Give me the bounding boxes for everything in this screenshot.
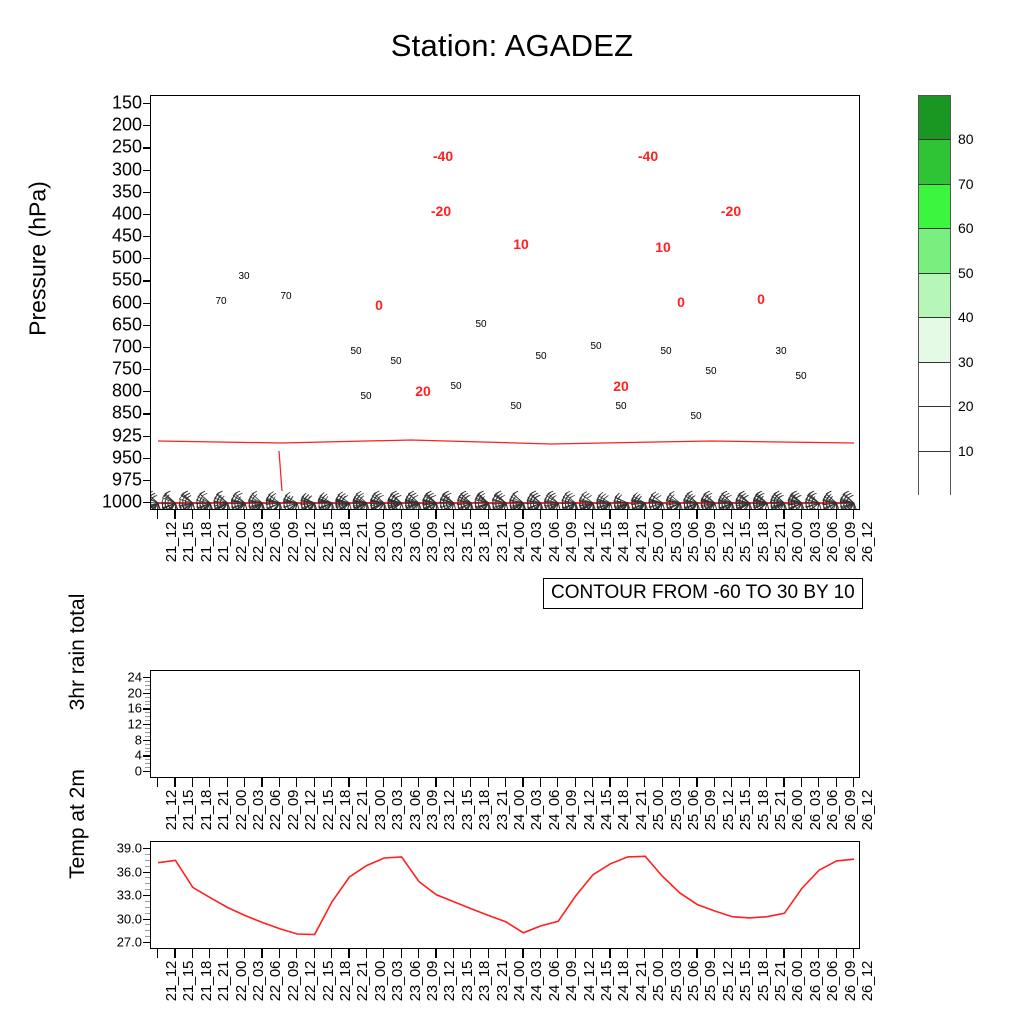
pressure-tick-label: 975 [82, 469, 142, 490]
x-tick-label: 25_15 [737, 522, 754, 562]
x-tick-mark [679, 510, 680, 519]
x-tick-label: 26_00 [789, 961, 806, 1001]
y-tick-label: 24 [96, 670, 142, 685]
x-tick-mark [192, 949, 193, 958]
x-tick-label: 23_12 [441, 790, 458, 830]
x-tick-label: 24_03 [528, 522, 545, 562]
x-tick-mark [557, 778, 558, 787]
x-tick-label: 24_18 [615, 790, 632, 830]
x-tick-mark [348, 778, 349, 787]
y-tick-mark [143, 755, 150, 756]
x-tick-mark [244, 778, 245, 787]
x-tick-mark [174, 949, 175, 958]
pressure-tick-mark [143, 325, 150, 326]
x-tick-mark [575, 778, 576, 787]
x-tick-label: 21_18 [198, 961, 215, 1001]
x-tick-label: 22_03 [250, 790, 267, 830]
x-tick-mark [348, 949, 349, 958]
x-tick-label: 22_00 [233, 790, 250, 830]
y-tick-label: 16 [96, 701, 142, 716]
pressure-tick-mark [143, 502, 150, 503]
x-tick-label: 23_03 [389, 522, 406, 562]
x-tick-label: 23_15 [459, 961, 476, 1001]
x-tick-mark [227, 949, 228, 958]
x-tick-label: 23_12 [441, 522, 458, 562]
x-tick-mark [401, 949, 402, 958]
x-tick-mark [470, 949, 471, 958]
pressure-tick-mark [143, 480, 150, 481]
x-tick-mark [853, 778, 854, 787]
pressure-tick-label: 700 [82, 336, 142, 357]
x-tick-mark [853, 510, 854, 519]
x-tick-mark [783, 510, 784, 519]
x-tick-label: 26_12 [859, 522, 876, 562]
contour-range-caption: CONTOUR FROM -60 TO 30 BY 10 [543, 578, 863, 609]
pressure-tick-label: 350 [82, 181, 142, 202]
x-tick-mark [731, 778, 732, 787]
x-tick-label: 24_00 [511, 522, 528, 562]
rain-total-plot[interactable] [150, 670, 860, 778]
x-tick-label: 25_21 [772, 790, 789, 830]
x-tick-mark [209, 949, 210, 958]
x-tick-mark [783, 949, 784, 958]
x-tick-label: 25_12 [720, 790, 737, 830]
x-tick-label: 24_06 [546, 961, 563, 1001]
x-tick-label: 22_18 [337, 522, 354, 562]
x-tick-mark [818, 510, 819, 519]
x-tick-label: 23_06 [407, 790, 424, 830]
y-tick-mark [143, 677, 150, 678]
x-tick-label: 23_18 [476, 961, 493, 1001]
x-tick-label: 24_00 [511, 961, 528, 1001]
x-tick-mark [261, 949, 262, 958]
y-tick-mark [143, 771, 150, 772]
x-tick-label: 24_21 [633, 961, 650, 1001]
pressure-tick-mark [143, 192, 150, 193]
x-tick-mark [453, 510, 454, 519]
colorbar-tick-label: 70 [958, 176, 974, 192]
x-tick-mark [157, 949, 158, 958]
x-tick-mark [557, 949, 558, 958]
y-tick-mark [143, 848, 150, 849]
x-tick-label: 26_06 [824, 961, 841, 1001]
x-tick-label: 23_21 [494, 522, 511, 562]
x-tick-label: 21_12 [163, 790, 180, 830]
y-tick-label: 12 [96, 717, 142, 732]
pressure-tick-label: 150 [82, 93, 142, 114]
x-tick-label: 24_12 [581, 522, 598, 562]
x-tick-mark [836, 510, 837, 519]
pressure-tick-mark [143, 436, 150, 437]
x-tick-label: 24_21 [633, 790, 650, 830]
y-tick-label: 33.0 [96, 888, 142, 903]
x-tick-mark [662, 949, 663, 958]
x-tick-mark [174, 778, 175, 787]
x-tick-mark [383, 949, 384, 958]
x-tick-label: 24_03 [528, 790, 545, 830]
x-tick-mark [749, 510, 750, 519]
x-tick-label: 24_12 [581, 790, 598, 830]
pressure-tick-mark [143, 347, 150, 348]
y-tick-mark [143, 693, 150, 694]
x-tick-label: 26_09 [842, 522, 859, 562]
x-tick-label: 23_06 [407, 961, 424, 1001]
pressure-tick-label: 600 [82, 292, 142, 313]
y-tick-mark [143, 872, 150, 873]
x-tick-mark [609, 510, 610, 519]
x-tick-label: 23_09 [424, 790, 441, 830]
x-tick-mark [227, 778, 228, 787]
x-tick-mark [383, 778, 384, 787]
x-tick-mark [488, 510, 489, 519]
pressure-tick-mark [143, 170, 150, 171]
x-tick-mark [366, 510, 367, 519]
x-tick-mark [609, 778, 610, 787]
temp-canvas [151, 842, 860, 949]
main-panel-y-axis-label: Pressure (hPa) [25, 99, 52, 419]
x-tick-label: 25_03 [668, 961, 685, 1001]
pressure-tick-mark [143, 236, 150, 237]
x-tick-mark [540, 778, 541, 787]
wind-barbs [151, 491, 859, 510]
x-tick-mark [818, 949, 819, 958]
x-tick-label: 21_15 [180, 522, 197, 562]
x-tick-mark [331, 778, 332, 787]
pressure-tick-mark [143, 214, 150, 215]
pressure-tick-mark [143, 280, 150, 281]
colorbar-tick-label: 30 [958, 354, 974, 370]
x-tick-mark [714, 778, 715, 787]
x-tick-label: 25_18 [755, 961, 772, 1001]
cross-section-canvas: 3050505050505050503070705050505050-40-40… [151, 96, 860, 510]
x-tick-mark [261, 510, 262, 519]
x-tick-label: 23_21 [494, 961, 511, 1001]
pressure-tick-label: 300 [82, 159, 142, 180]
x-tick-label: 25_15 [737, 961, 754, 1001]
temp-series-line [158, 856, 854, 934]
x-tick-mark [801, 949, 802, 958]
x-tick-label: 22_00 [233, 522, 250, 562]
x-tick-mark [766, 778, 767, 787]
x-tick-label: 22_21 [354, 961, 371, 1001]
x-tick-label: 26_00 [789, 522, 806, 562]
x-tick-label: 24_06 [546, 522, 563, 562]
x-tick-mark [592, 949, 593, 958]
y-tick-mark [143, 708, 150, 709]
x-tick-label: 21_18 [198, 790, 215, 830]
page-title: Station: AGADEZ [0, 28, 1024, 64]
upper-air-cross-section-plot[interactable]: 3050505050505050503070705050505050-40-40… [150, 95, 860, 510]
x-tick-mark [644, 510, 645, 519]
x-tick-label: 23_00 [372, 790, 389, 830]
x-tick-mark [662, 510, 663, 519]
x-tick-mark [470, 778, 471, 787]
pressure-tick-label: 1000 [82, 492, 142, 513]
x-tick-mark [314, 949, 315, 958]
x-tick-label: 26_12 [859, 790, 876, 830]
x-tick-mark [749, 949, 750, 958]
x-tick-label: 24_09 [563, 790, 580, 830]
x-tick-label: 26_12 [859, 961, 876, 1001]
x-tick-label: 21_12 [163, 522, 180, 562]
x-tick-mark [209, 778, 210, 787]
x-tick-mark [296, 778, 297, 787]
x-tick-label: 25_15 [737, 790, 754, 830]
x-tick-mark [488, 949, 489, 958]
temp-panel-y-tick-labels: 39.036.033.030.027.0 [86, 841, 142, 949]
pressure-tick-mark [143, 147, 150, 148]
x-tick-mark [731, 510, 732, 519]
x-tick-mark [279, 949, 280, 958]
x-tick-mark [470, 510, 471, 519]
x-tick-mark [157, 510, 158, 519]
x-tick-mark [192, 778, 193, 787]
x-tick-mark [836, 949, 837, 958]
x-tick-label: 24_06 [546, 790, 563, 830]
x-tick-label: 23_03 [389, 790, 406, 830]
x-tick-label: 25_06 [685, 790, 702, 830]
x-tick-mark [679, 949, 680, 958]
x-tick-mark [540, 949, 541, 958]
temp-2m-plot[interactable] [150, 841, 860, 949]
x-tick-mark [296, 949, 297, 958]
x-tick-label: 23_18 [476, 790, 493, 830]
colorbar-tick-label: 40 [958, 309, 974, 325]
x-tick-mark [192, 510, 193, 519]
colorbar-tick-label: 20 [958, 398, 974, 414]
x-tick-label: 25_12 [720, 522, 737, 562]
x-tick-mark [540, 510, 541, 519]
x-tick-mark [679, 778, 680, 787]
x-tick-label: 23_00 [372, 522, 389, 562]
x-tick-label: 22_15 [320, 961, 337, 1001]
main-panel-y-tick-labels: 1502002503003504004505005506006507007508… [78, 95, 142, 510]
x-tick-label: 25_12 [720, 961, 737, 1001]
y-tick-label: 39.0 [96, 841, 142, 856]
colorbar-tick-label: 80 [958, 131, 974, 147]
x-tick-label: 22_12 [302, 522, 319, 562]
x-tick-mark [314, 510, 315, 519]
y-tick-label: 4 [96, 748, 142, 763]
x-tick-label: 26_03 [807, 522, 824, 562]
x-tick-mark [696, 778, 697, 787]
x-tick-mark [853, 949, 854, 958]
y-tick-mark [143, 740, 150, 741]
x-tick-label: 21_21 [215, 790, 232, 830]
x-tick-label: 26_03 [807, 961, 824, 1001]
pressure-tick-mark [143, 258, 150, 259]
x-tick-label: 22_06 [267, 790, 284, 830]
x-tick-label: 23_03 [389, 961, 406, 1001]
y-tick-label: 30.0 [96, 911, 142, 926]
colorbar-tick-label: 10 [958, 443, 974, 459]
x-tick-label: 25_18 [755, 522, 772, 562]
x-tick-label: 24_18 [615, 522, 632, 562]
pressure-tick-label: 450 [82, 226, 142, 247]
x-tick-label: 25_09 [702, 522, 719, 562]
x-tick-label: 26_00 [789, 790, 806, 830]
x-tick-label: 23_15 [459, 790, 476, 830]
x-tick-label: 24_12 [581, 961, 598, 1001]
x-tick-label: 22_12 [302, 790, 319, 830]
x-tick-label: 21_12 [163, 961, 180, 1001]
x-tick-label: 22_18 [337, 790, 354, 830]
y-tick-label: 20 [96, 685, 142, 700]
x-tick-mark [488, 778, 489, 787]
x-tick-label: 26_09 [842, 961, 859, 1001]
x-tick-label: 23_00 [372, 961, 389, 1001]
x-tick-mark [766, 949, 767, 958]
y-tick-mark [143, 919, 150, 920]
y-tick-label: 8 [96, 732, 142, 747]
x-tick-label: 24_09 [563, 522, 580, 562]
x-tick-label: 21_15 [180, 961, 197, 1001]
x-tick-label: 25_09 [702, 790, 719, 830]
x-tick-mark [453, 778, 454, 787]
x-tick-mark [418, 949, 419, 958]
x-tick-label: 22_21 [354, 790, 371, 830]
x-tick-mark [801, 778, 802, 787]
x-tick-mark [418, 778, 419, 787]
x-tick-mark [505, 778, 506, 787]
y-tick-label: 36.0 [96, 864, 142, 879]
x-tick-label: 25_18 [755, 790, 772, 830]
x-tick-label: 25_09 [702, 961, 719, 1001]
pressure-tick-label: 925 [82, 425, 142, 446]
x-tick-mark [314, 778, 315, 787]
x-tick-label: 26_09 [842, 790, 859, 830]
rain-canvas [151, 671, 860, 778]
colorbar-tick-label: 50 [958, 265, 974, 281]
x-tick-mark [418, 510, 419, 519]
x-tick-mark [731, 949, 732, 958]
x-tick-mark [383, 510, 384, 519]
pressure-tick-label: 800 [82, 381, 142, 402]
x-tick-mark [714, 949, 715, 958]
temperature-isotherms [158, 440, 854, 503]
x-tick-mark [227, 510, 228, 519]
x-tick-label: 22_00 [233, 961, 250, 1001]
x-tick-mark [627, 778, 628, 787]
x-tick-label: 22_09 [285, 961, 302, 1001]
x-tick-mark [331, 949, 332, 958]
rain-panel-y-axis-label: 3hr rain total [66, 562, 90, 742]
x-tick-mark [644, 949, 645, 958]
x-tick-mark [279, 778, 280, 787]
x-tick-label: 26_06 [824, 790, 841, 830]
x-tick-label: 22_03 [250, 961, 267, 1001]
colorbar-tick-label: 60 [958, 220, 974, 236]
x-tick-mark [244, 949, 245, 958]
pressure-tick-label: 500 [82, 248, 142, 269]
x-tick-label: 24_00 [511, 790, 528, 830]
x-tick-mark [366, 949, 367, 958]
x-tick-label: 26_03 [807, 790, 824, 830]
x-tick-mark [627, 510, 628, 519]
x-tick-mark [714, 510, 715, 519]
pressure-tick-label: 400 [82, 203, 142, 224]
x-tick-label: 25_03 [668, 522, 685, 562]
y-tick-mark [143, 895, 150, 896]
x-tick-mark [522, 949, 523, 958]
x-tick-mark [505, 949, 506, 958]
x-tick-mark [592, 510, 593, 519]
pressure-tick-mark [143, 369, 150, 370]
x-tick-mark [366, 778, 367, 787]
x-tick-label: 22_15 [320, 522, 337, 562]
x-tick-mark [296, 510, 297, 519]
x-tick-mark [818, 778, 819, 787]
x-tick-mark [401, 778, 402, 787]
x-tick-mark [157, 778, 158, 787]
x-tick-label: 25_00 [650, 522, 667, 562]
x-tick-label: 23_12 [441, 961, 458, 1001]
x-tick-mark [244, 510, 245, 519]
x-tick-mark [575, 949, 576, 958]
x-tick-mark [662, 778, 663, 787]
y-tick-mark [143, 724, 150, 725]
x-tick-mark [696, 949, 697, 958]
x-tick-label: 24_21 [633, 522, 650, 562]
x-tick-mark [627, 949, 628, 958]
x-tick-mark [801, 510, 802, 519]
x-tick-mark [209, 510, 210, 519]
x-tick-label: 24_15 [598, 790, 615, 830]
x-tick-mark [505, 510, 506, 519]
pressure-tick-mark [143, 125, 150, 126]
x-tick-label: 22_21 [354, 522, 371, 562]
x-tick-mark [749, 778, 750, 787]
x-tick-mark [174, 510, 175, 519]
pressure-tick-mark [143, 303, 150, 304]
x-tick-label: 23_21 [494, 790, 511, 830]
x-tick-label: 24_18 [615, 961, 632, 1001]
x-tick-label: 23_09 [424, 961, 441, 1001]
x-tick-mark [522, 778, 523, 787]
x-tick-label: 23_15 [459, 522, 476, 562]
x-tick-label: 22_18 [337, 961, 354, 1001]
x-tick-label: 26_06 [824, 522, 841, 562]
x-tick-mark [783, 778, 784, 787]
pressure-tick-label: 250 [82, 137, 142, 158]
isotherm-labels: -40-40-20-2010100020200 [368, 148, 773, 399]
x-tick-mark [522, 510, 523, 519]
x-tick-label: 25_21 [772, 961, 789, 1001]
x-tick-label: 25_00 [650, 961, 667, 1001]
x-tick-label: 21_21 [215, 522, 232, 562]
x-tick-mark [401, 510, 402, 519]
pressure-tick-label: 850 [82, 403, 142, 424]
temp-panel-x-axis: 21_1221_1521_1821_2122_0022_0322_0622_09… [150, 949, 860, 1029]
x-tick-mark [609, 949, 610, 958]
pressure-tick-mark [143, 103, 150, 104]
pressure-tick-mark [143, 458, 150, 459]
x-tick-mark [435, 778, 436, 787]
x-tick-mark [557, 510, 558, 519]
pressure-tick-mark [143, 413, 150, 414]
x-tick-mark [696, 510, 697, 519]
x-tick-label: 24_15 [598, 522, 615, 562]
x-tick-label: 21_15 [180, 790, 197, 830]
x-tick-label: 22_06 [267, 522, 284, 562]
x-tick-mark [435, 949, 436, 958]
x-tick-mark [836, 778, 837, 787]
x-tick-label: 24_09 [563, 961, 580, 1001]
pressure-tick-label: 950 [82, 447, 142, 468]
x-tick-label: 22_12 [302, 961, 319, 1001]
x-tick-label: 25_00 [650, 790, 667, 830]
x-tick-mark [453, 949, 454, 958]
